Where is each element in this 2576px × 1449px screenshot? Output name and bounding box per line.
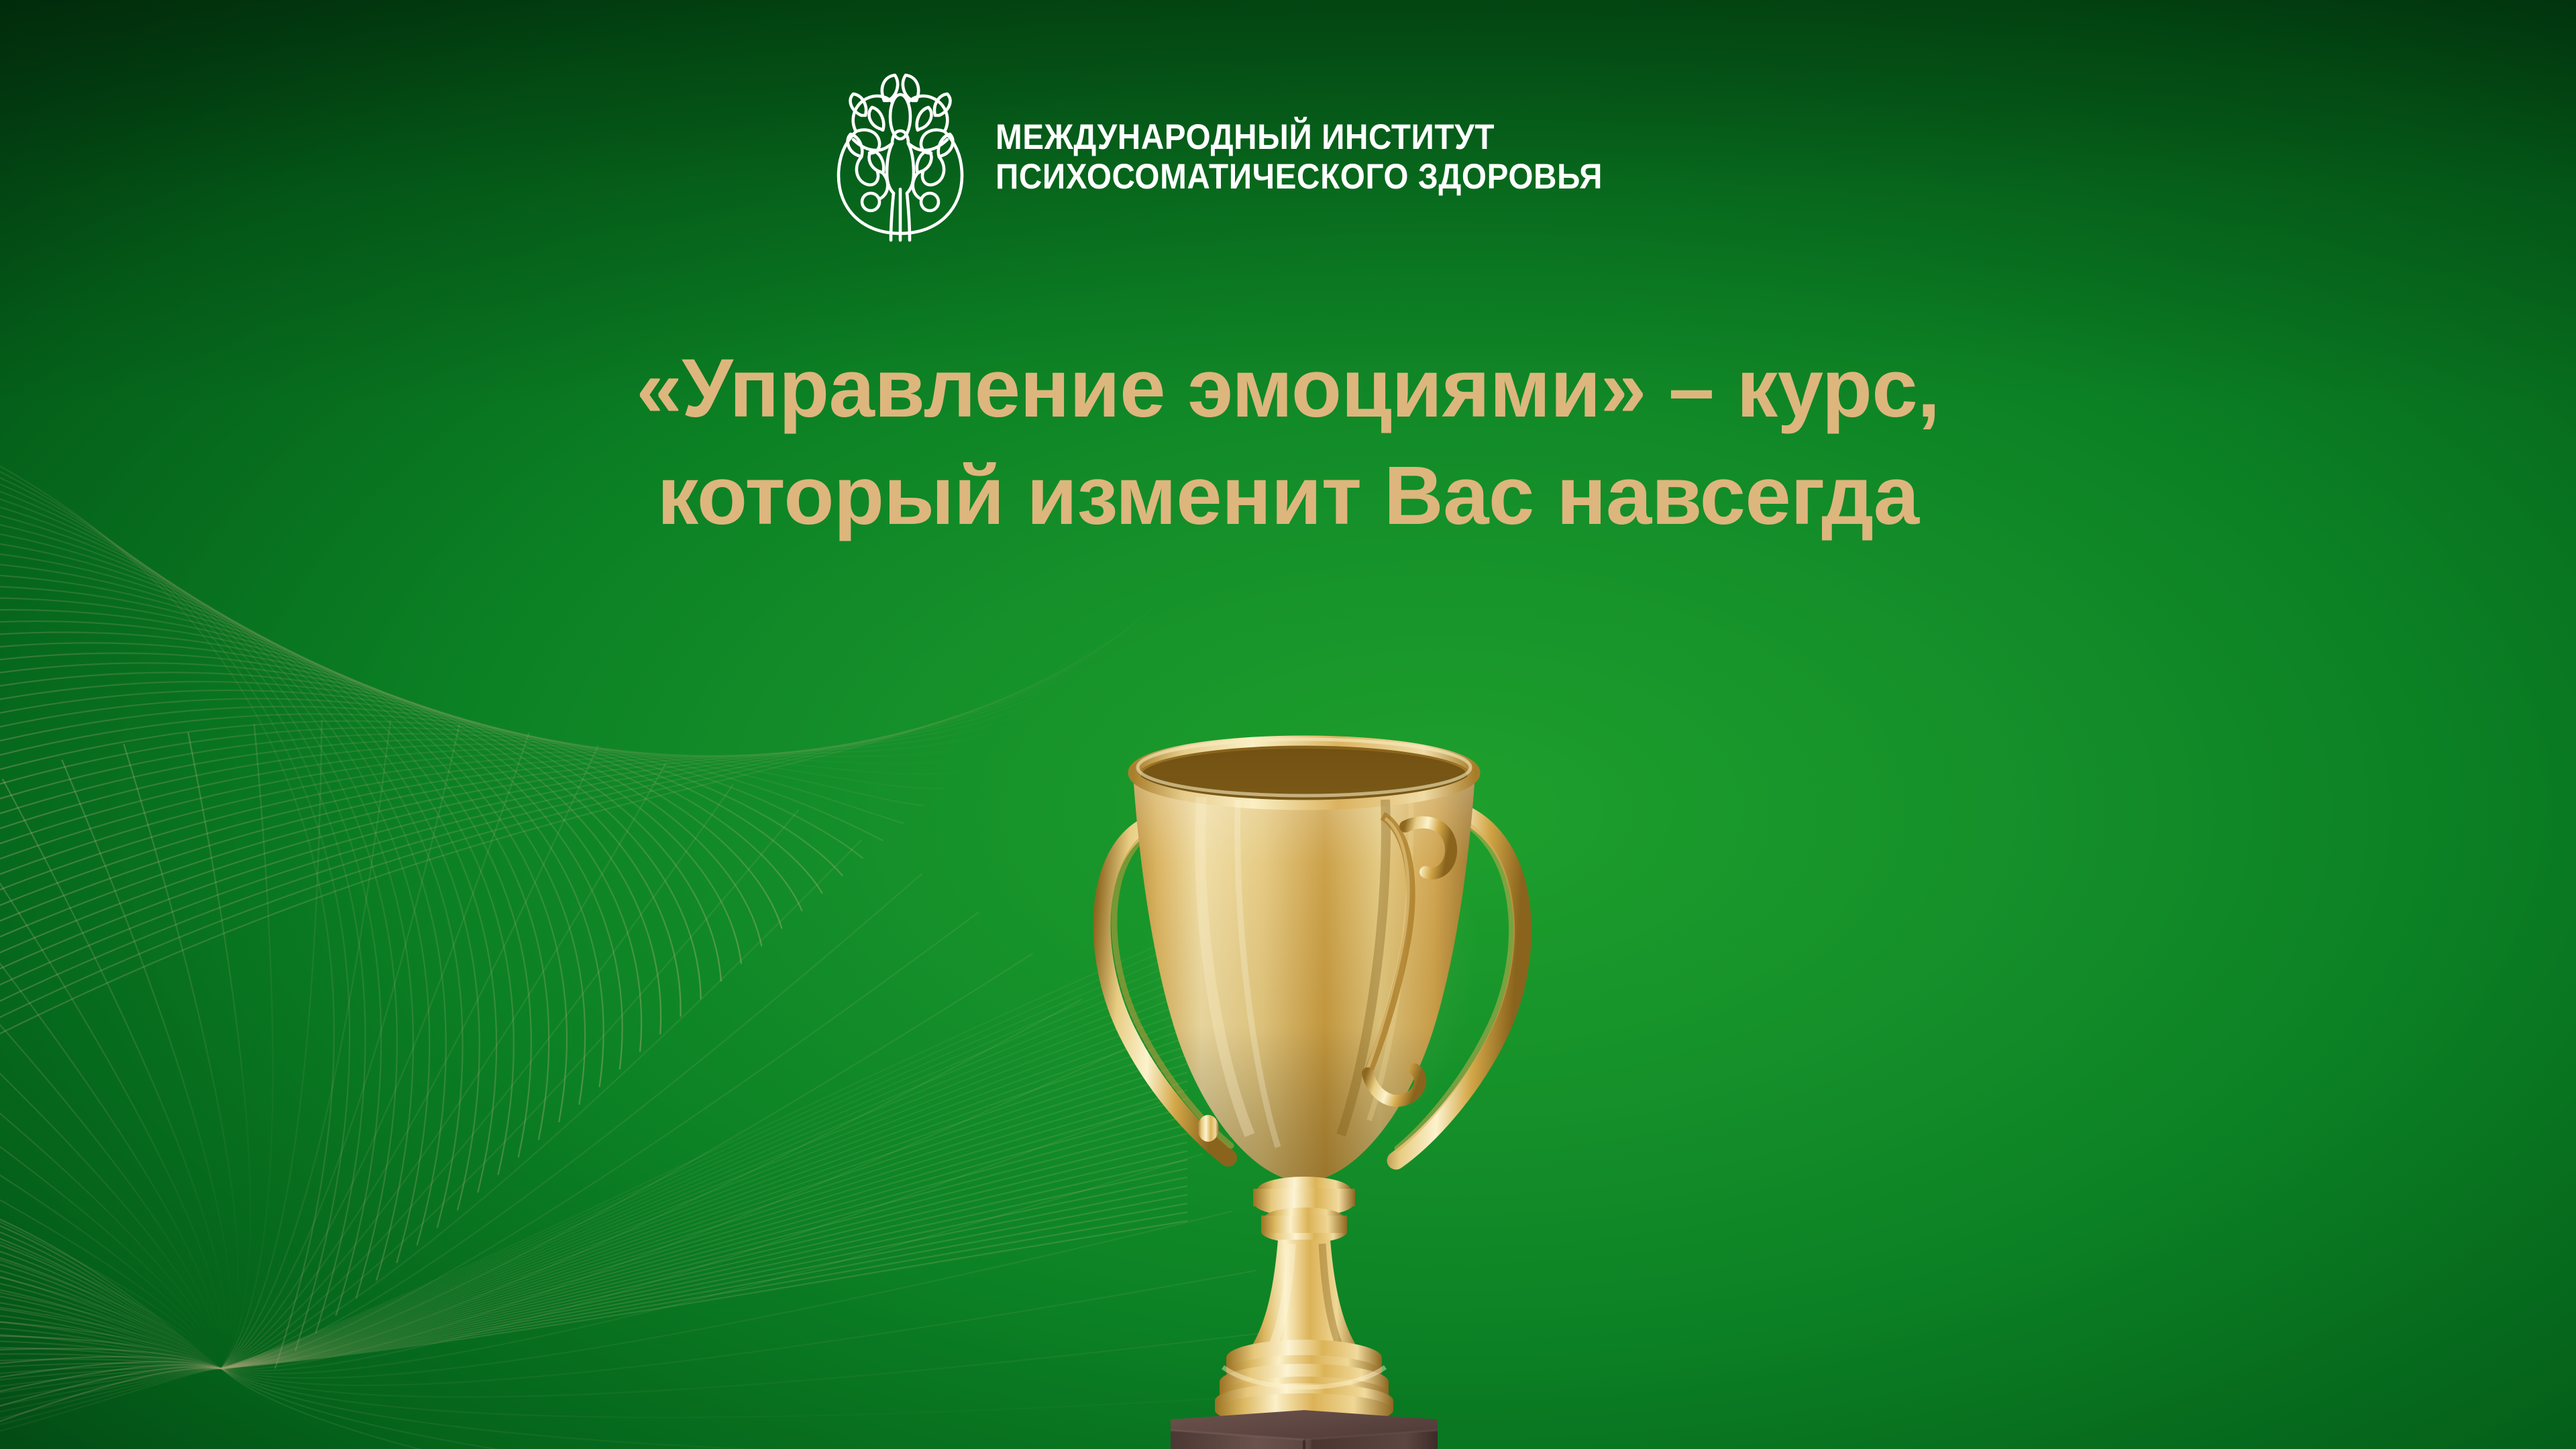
brand-logo-line-2: ПСИХОСОМАТИЧЕСКОГО ЗДОРОВЬЯ (996, 158, 1603, 196)
headline-line-2: который изменит Вас навсегда (201, 443, 2375, 550)
brand-logo-line-1: МЕЖДУНАРОДНЫЙ ИНСТИТУТ (996, 118, 1603, 156)
slide-canvas: МЕЖДУНАРОДНЫЙ ИНСТИТУТ ПСИХОСОМАТИЧЕСКОГ… (0, 0, 2576, 1449)
headline-line-1: «Управление эмоциями» – курс, (201, 335, 2375, 443)
brand-logo-text: МЕЖДУНАРОДНЫЙ ИНСТИТУТ ПСИХОСОМАТИЧЕСКОГ… (996, 114, 1670, 196)
page-title: «Управление эмоциями» – курс, который из… (0, 335, 2576, 550)
brand-logo-lockup[interactable]: МЕЖДУНАРОДНЫЙ ИНСТИТУТ ПСИХОСОМАТИЧЕСКОГ… (829, 64, 1670, 246)
tree-human-brain-icon (829, 64, 971, 246)
gold-trophy-cup (1070, 684, 1553, 1449)
